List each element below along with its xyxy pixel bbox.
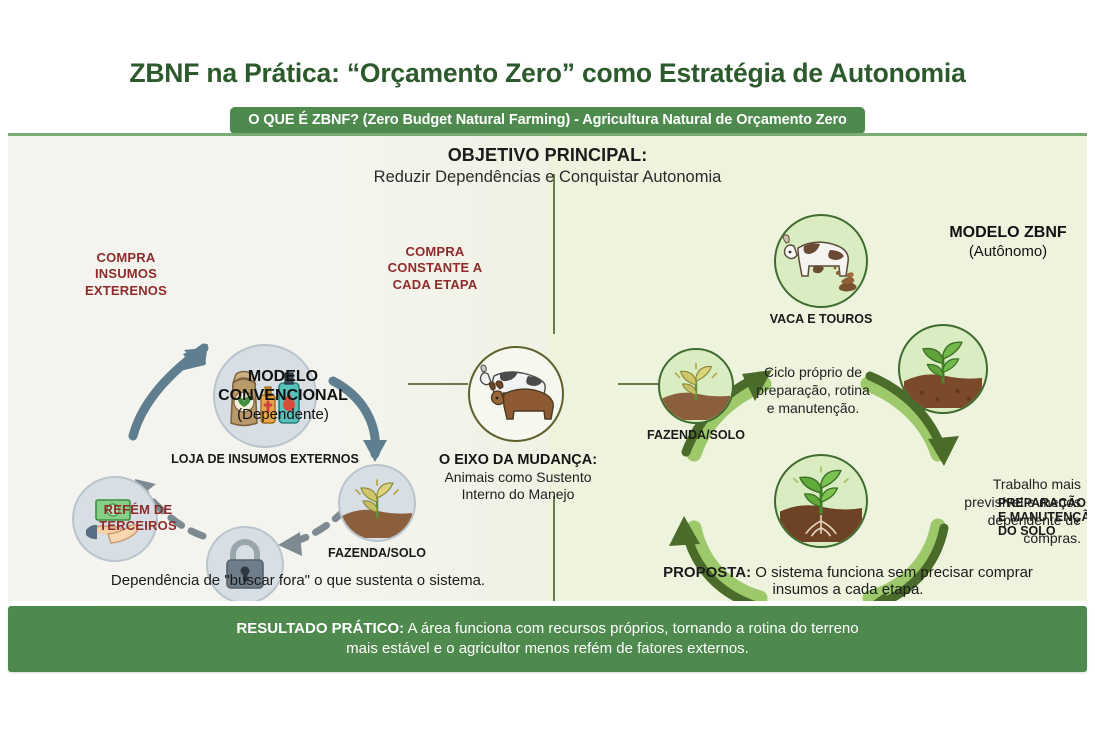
node-supplies-store-label: LOJA DE INSUMOS EXTERNOS [170, 452, 360, 466]
page-title: ZBNF na Prática: “Orçamento Zero” como E… [0, 58, 1095, 89]
center-caption-line2: Interno do Manejo [428, 486, 608, 503]
objective-heading: OBJETIVO PRINCIPAL: [8, 145, 1087, 166]
node-cow[interactable]: VACA E TOUROS [774, 214, 868, 308]
cattle-icon [468, 346, 564, 442]
node-left-farm[interactable]: FAZENDA/SOLO [338, 464, 416, 542]
footer-label: RESULTADO PRÁTICO: [236, 620, 404, 637]
footer-line2: mais estável e o agricultor menos refém … [346, 640, 749, 657]
note-cycle: Ciclo próprio depreparação, rotinae manu… [743, 364, 883, 418]
objective-block: OBJETIVO PRINCIPAL: Reduzir Dependências… [8, 145, 1087, 187]
proposal-text: O sistema funciona sem precisar comprar … [751, 564, 1033, 598]
note-work: Trabalho maisprevisível e menosdependent… [936, 476, 1081, 548]
left-model-subtitle-text: (Dependente) [237, 406, 329, 423]
right-model-subtitle-text: (Autônomo) [969, 243, 1047, 260]
node-center-cattle[interactable] [468, 346, 564, 442]
center-caption-line1: Animais como Sustento [428, 469, 608, 486]
callout-refem: REFÉM DETERCEIROS [68, 502, 208, 535]
footer-line1: A área funciona com recursos próprios, t… [404, 620, 858, 637]
infographic-root: ZBNF na Prática: “Orçamento Zero” como E… [0, 0, 1095, 730]
left-model-title: MODELO CONVENCIONAL (Dependente) [183, 368, 383, 425]
diagram-panel: OBJETIVO PRINCIPAL: Reduzir Dependências… [8, 133, 1087, 601]
callout-compra-insumos: COMPRAINSUMOSEXTERENOS [56, 250, 196, 299]
seedling-soil-icon [338, 464, 416, 542]
proposal-label: PROPOSTA: [663, 564, 751, 581]
node-right-farm[interactable]: FAZENDA/SOLO [658, 348, 734, 424]
center-caption: O EIXO DA MUDANÇA: Animais como Sustento… [428, 452, 608, 503]
proposal-note: PROPOSTA: O sistema funciona sem precisa… [648, 564, 1048, 598]
plant-roots-icon [774, 454, 868, 548]
footer-banner: RESULTADO PRÁTICO: A área funciona com r… [8, 606, 1087, 672]
padlock-icon [206, 526, 284, 601]
subtitle-banner: O QUE É ZBNF? (Zero Budget Natural Farmi… [230, 107, 865, 134]
right-model-title-text: MODELO ZBNF [949, 224, 1066, 241]
node-terceiros[interactable]: TERCEIROS/FORNECEDORES [206, 526, 284, 601]
node-plant-roots[interactable] [774, 454, 868, 548]
footer-text: RESULTADO PRÁTICO: A área funciona com r… [236, 619, 858, 659]
node-cow-label: VACA E TOUROS [741, 312, 901, 326]
right-model-title: MODELO ZBNF (Autônomo) [908, 224, 1087, 262]
node-right-farm-label: FAZENDA/SOLO [616, 428, 776, 442]
cow-manure-icon [774, 214, 868, 308]
seedling-soil-icon [658, 348, 734, 424]
objective-text: Reduzir Dependências e Conquistar Autono… [8, 168, 1087, 187]
node-preparacao[interactable] [898, 324, 988, 414]
left-model-title-text: MODELO CONVENCIONAL [218, 368, 348, 404]
node-left-farm-label: FAZENDA/SOLO [302, 546, 452, 560]
sprout-soil-icon [898, 324, 988, 414]
subtitle-banner-wrap: O QUE É ZBNF? (Zero Budget Natural Farmi… [0, 107, 1095, 134]
center-caption-heading: O EIXO DA MUDANÇA: [428, 452, 608, 469]
callout-compra-constante: COMPRACONSTANTE ACADA ETAPA [360, 244, 510, 293]
left-caption: Dependência de "buscar fora" o que suste… [63, 572, 533, 589]
